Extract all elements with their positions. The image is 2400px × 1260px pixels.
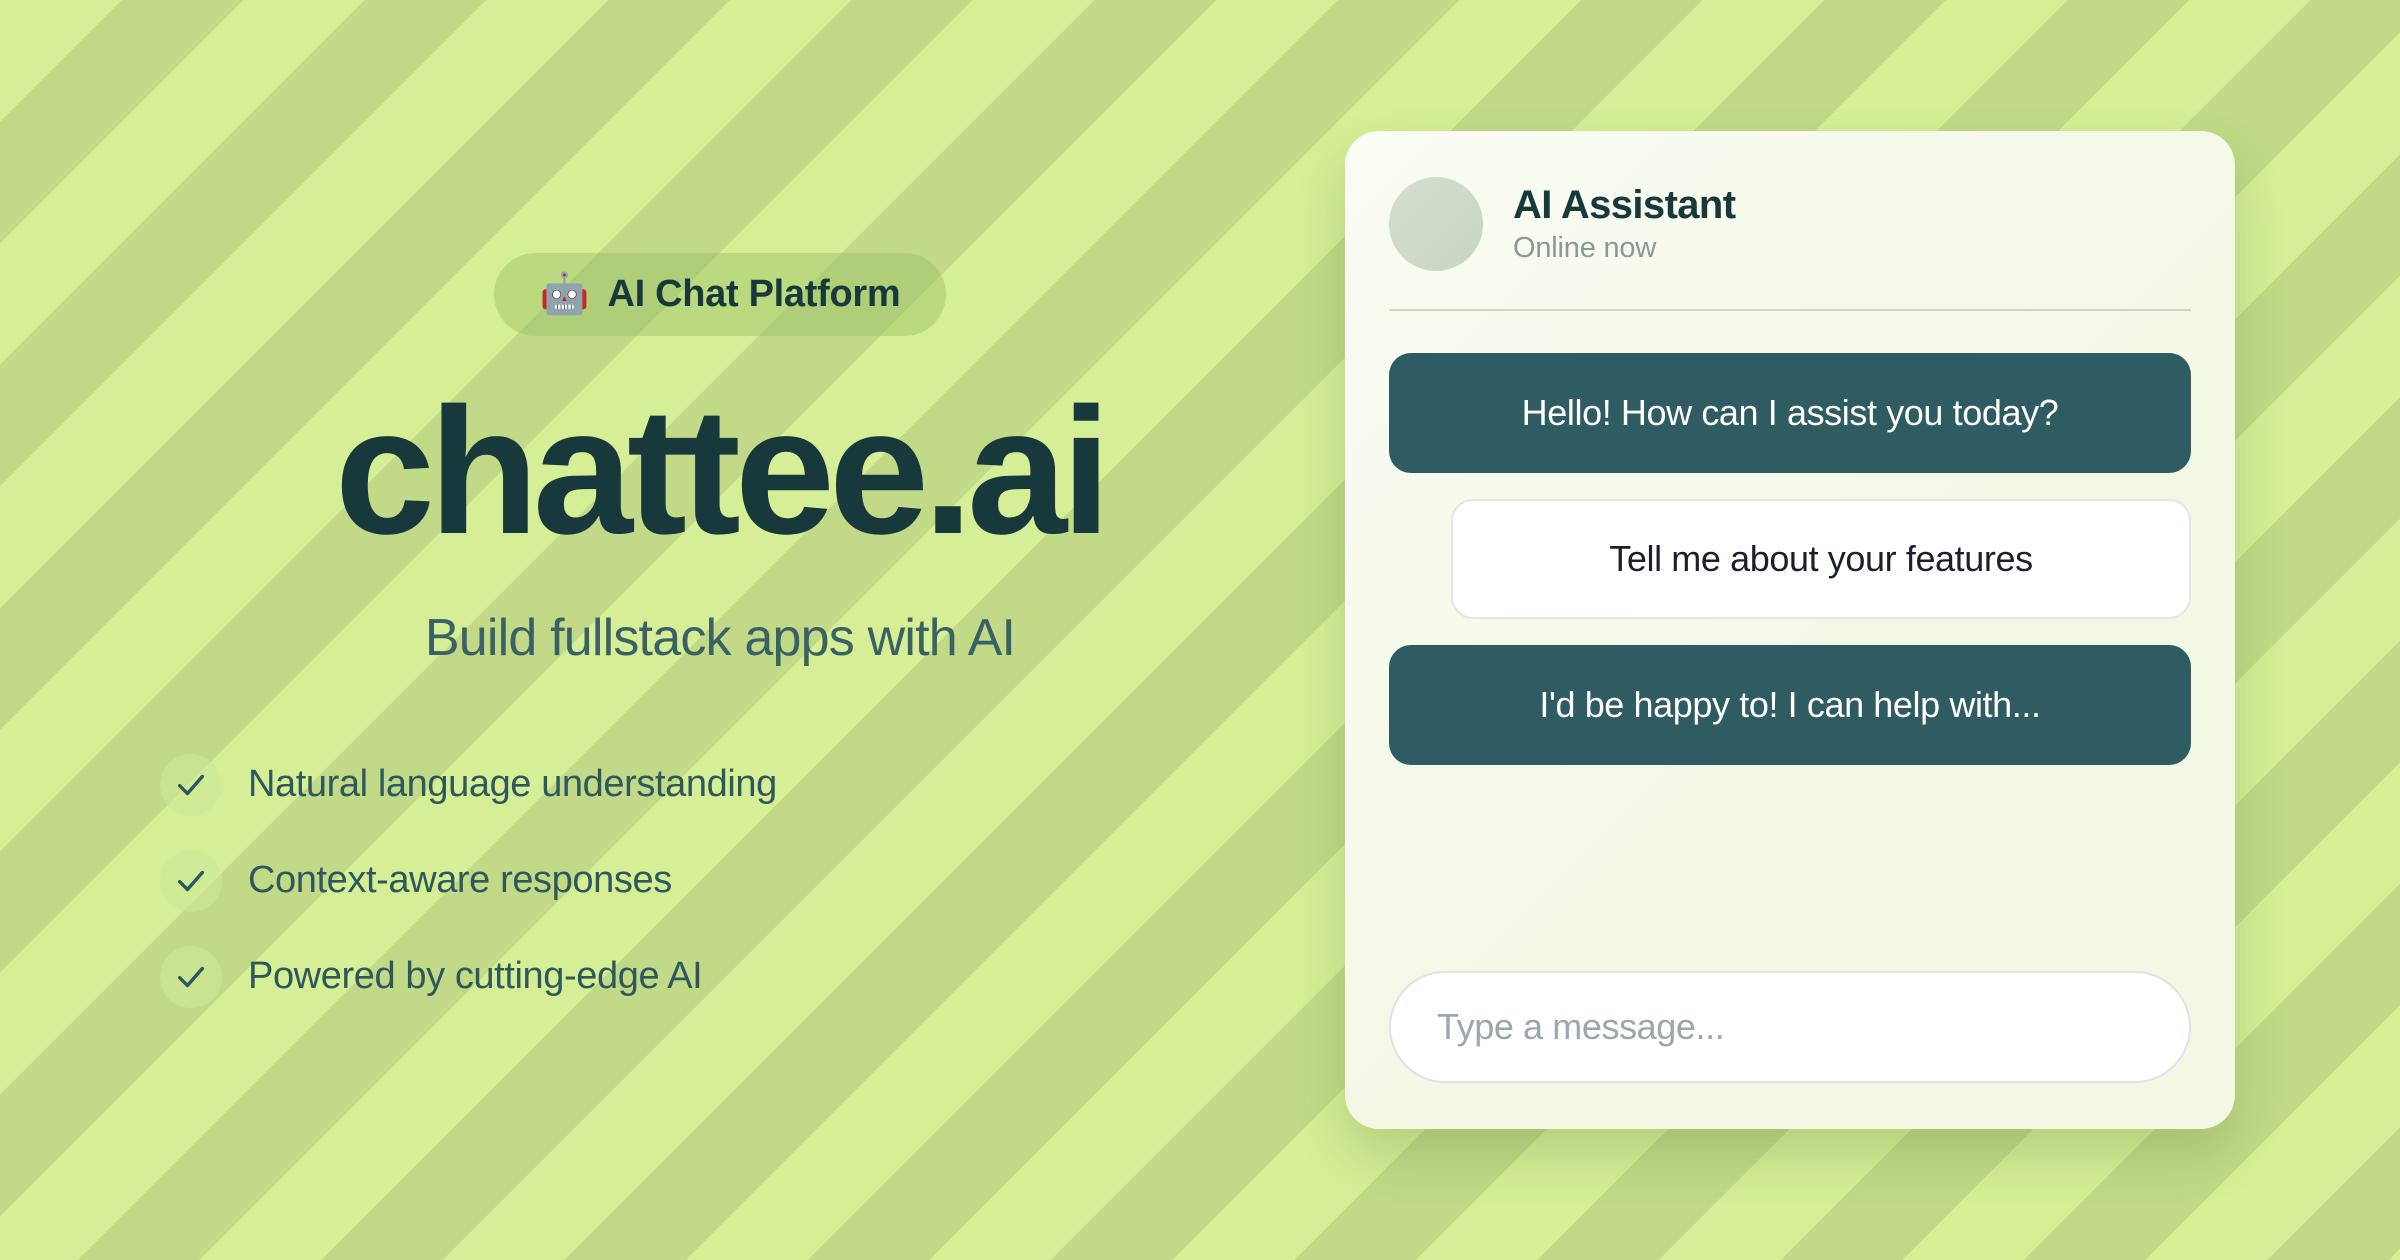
check-icon [160, 946, 222, 1008]
page-title: chattee.ai [335, 382, 1105, 562]
assistant-avatar [1389, 177, 1483, 271]
chat-card: AI Assistant Online now Hello! How can I… [1345, 131, 2235, 1129]
assistant-name: AI Assistant [1513, 184, 1736, 226]
feature-item: Context-aware responses [160, 850, 777, 912]
feature-item: Powered by cutting-edge AI [160, 946, 777, 1008]
feature-list: Natural language understanding Context-a… [160, 754, 777, 1008]
message-input[interactable] [1389, 971, 2191, 1083]
chat-header: AI Assistant Online now [1389, 177, 2191, 309]
chat-header-divider [1389, 309, 2191, 311]
check-icon [160, 754, 222, 816]
message-list: Hello! How can I assist you today? Tell … [1389, 353, 2191, 765]
message-composer [1389, 941, 2191, 1083]
feature-label: Natural language understanding [248, 763, 777, 806]
robot-emoji: 🤖 [540, 274, 590, 314]
assistant-status: Online now [1513, 232, 1736, 265]
feature-label: Powered by cutting-edge AI [248, 955, 702, 998]
hero-section: 🤖 AI Chat Platform chattee.ai Build full… [0, 0, 1340, 1260]
message-bubble-user: Tell me about your features [1451, 499, 2191, 619]
hero-subtitle: Build fullstack apps with AI [425, 608, 1015, 668]
assistant-identity: AI Assistant Online now [1513, 184, 1736, 265]
message-bubble-assistant: Hello! How can I assist you today? [1389, 353, 2191, 473]
feature-label: Context-aware responses [248, 859, 672, 902]
feature-item: Natural language understanding [160, 754, 777, 816]
platform-badge-label: AI Chat Platform [607, 273, 900, 316]
message-bubble-assistant: I'd be happy to! I can help with... [1389, 645, 2191, 765]
platform-badge: 🤖 AI Chat Platform [494, 253, 947, 336]
check-icon [160, 850, 222, 912]
